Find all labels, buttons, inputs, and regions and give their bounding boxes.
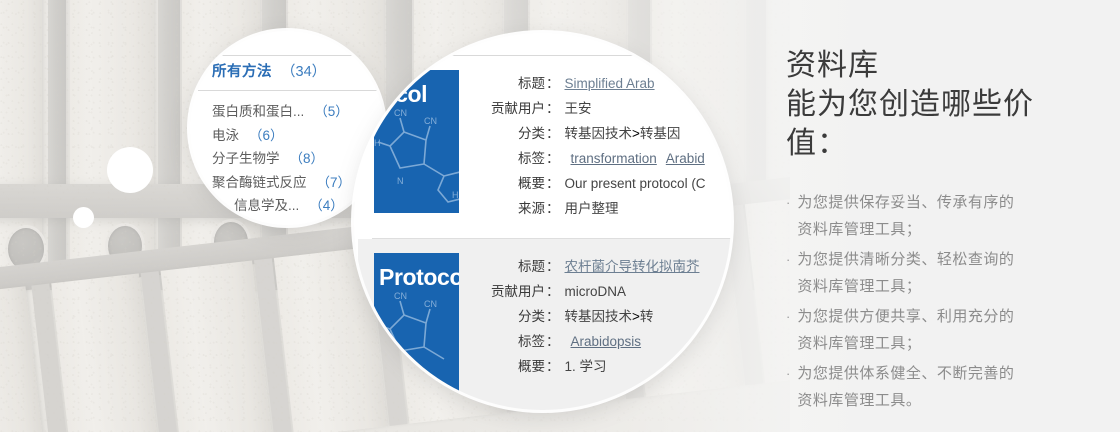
result-category-2[interactable]: 转 [640,305,654,325]
bullet-marker-icon: · [786,189,790,243]
meta-colon: ： [546,147,560,167]
meta-label-category: 分类 [481,305,545,325]
category-item-ellipsis: ... [288,198,299,213]
meta-label-summary: 概要 [481,355,545,375]
category-item-count: （4） [309,194,344,214]
promo-bullet-line: 为您提供方便共享、利用充分的 [797,308,1014,325]
result-category-2[interactable]: 转基因 [640,122,681,142]
meta-row-user: 贡献用户 ： microDNA [481,280,731,305]
promo-heading-line2: 能为您创造哪些价值： [786,88,1034,160]
category-header[interactable]: 所有方法 （34） [198,55,384,91]
category-item-label: 电泳 [212,124,239,144]
meta-colon: ： [546,172,560,192]
protocol-thumbnail[interactable]: rotocol CNCN HNH [374,70,459,213]
svg-text:CN: CN [394,291,407,301]
result-card[interactable]: Protocol CNCN [358,239,731,410]
svg-text:H: H [374,138,381,148]
protocol-thumbnail[interactable]: Protocol CNCN [374,253,459,396]
promo-bullet-text: 为您提供方便共享、利用充分的 资料库管理工具； [797,303,1014,357]
svg-text:CN: CN [424,116,437,126]
category-item-label: 信息学及 [234,194,288,214]
result-card[interactable]: rotocol CNCN HNH [358,56,731,238]
meta-label-user: 贡献用户 [481,97,545,117]
svg-text:CN: CN [394,108,407,118]
result-user: microDNA [565,284,627,299]
result-meta: 标题 ： 农杆菌介导转化拟南芥 贡献用户 ： microDNA 分类 ： 转基因… [459,253,731,396]
promo-bullet-line: 为您提供保存妥当、传承有序的 [797,194,1014,211]
category-item-count: （5） [314,100,349,120]
result-summary: 1. 学习 [565,355,607,375]
breadcrumb-separator: > [632,309,640,324]
promo-copy: 资料库 能为您创造哪些价值： · 为您提供保存妥当、传承有序的 资料库管理工具；… [786,46,1086,417]
results-panel: rotocol CNCN HNH [358,55,731,410]
result-tags: Arabidopsis [571,334,651,349]
result-title-link[interactable]: 农杆菌介导转化拟南芥 [565,255,700,275]
bullet-marker-icon: · [786,360,790,414]
promo-banner: 所有方法 （34） 蛋白质和蛋白... （5） 电泳 （6） 分子生物学 （8） [0,0,1120,432]
meta-row-title: 标题 ： Simplified Arab [481,72,731,97]
promo-bullet-text: 为您提供保存妥当、传承有序的 资料库管理工具； [797,189,1014,243]
result-user: 王安 [565,97,592,117]
promo-bullet-item: · 为您提供体系健全、不断完善的 资料库管理工具。 [786,360,1086,414]
meta-label-source: 来源 [481,197,545,217]
meta-label-tags: 标签 [481,147,545,167]
category-item-ellipsis: ... [293,104,304,119]
meta-colon: ： [546,355,560,375]
meta-label-tags: 标签 [481,330,545,350]
meta-colon: ： [546,72,560,92]
svg-text:CN: CN [424,299,437,309]
result-source: 用户整理 [565,197,619,217]
promo-bullet-line: 资料库管理工具； [797,335,921,352]
meta-label-title: 标题 [481,72,545,92]
meta-row-tags: 标签 ： Arabidopsis [481,330,731,355]
meta-row-summary: 概要 ： Our present protocol (C [481,172,731,197]
category-item-count: （7） [317,171,352,191]
meta-row-tags: 标签 ： transformationArabid [481,147,731,172]
category-header-count: （34） [281,60,326,81]
meta-row-summary: 概要 ： 1. 学习 [481,355,731,380]
meta-label-category: 分类 [481,122,545,142]
promo-bullet-line: 为您提供体系健全、不断完善的 [797,365,1014,382]
promo-bullet-line: 资料库管理工具。 [797,392,921,409]
meta-row-category: 分类 ： 转基因技术 > 转 [481,305,731,330]
meta-label-user: 贡献用户 [481,280,545,300]
category-header-title: 所有方法 [212,60,272,81]
meta-colon: ： [546,255,560,275]
meta-colon: ： [546,305,560,325]
svg-text:H: H [452,190,459,200]
meta-row-category: 分类 ： 转基因技术 > 转基因 [481,122,731,147]
result-summary: Our present protocol (C [565,176,706,191]
result-tags: transformationArabid [571,151,714,166]
svg-text:N: N [397,176,404,186]
breadcrumb-separator: > [632,126,640,141]
meta-label-summary: 概要 [481,172,545,192]
category-item-count: （8） [290,147,325,167]
result-category-1[interactable]: 转基因技术 [565,122,633,142]
bullet-marker-icon: · [786,246,790,300]
meta-row-user: 贡献用户 ： 王安 [481,97,731,122]
category-item-label: 分子生物学 [212,147,280,167]
promo-bullet-line: 资料库管理工具； [797,278,921,295]
tag-link[interactable]: Arabid [666,151,705,166]
molecule-icon: CNCN [374,281,459,396]
meta-colon: ： [546,97,560,117]
molecule-icon: CNCN HNH [374,98,459,213]
promo-heading: 资料库 能为您创造哪些价值： [786,46,1086,163]
result-title-link[interactable]: Simplified Arab [565,76,655,91]
promo-heading-line1: 资料库 [786,49,879,82]
tag-link[interactable]: transformation [571,151,657,166]
meta-colon: ： [546,280,560,300]
tag-link[interactable]: Arabidopsis [571,334,642,349]
category-item-count: （6） [249,124,284,144]
promo-bullet-item: · 为您提供清晰分类、轻松查询的 资料库管理工具； [786,246,1086,300]
meta-colon: ： [546,122,560,142]
category-item-label: 蛋白质和蛋白 [212,100,293,120]
decorative-dot-small [73,207,94,228]
category-item-label: 聚合酶链式反应 [212,171,307,191]
results-bubble: rotocol CNCN HNH [354,33,731,410]
promo-bullet-item: · 为您提供方便共享、利用充分的 资料库管理工具； [786,303,1086,357]
promo-bullet-line: 为您提供清晰分类、轻松查询的 [797,251,1014,268]
promo-bullet-text: 为您提供体系健全、不断完善的 资料库管理工具。 [797,360,1014,414]
meta-colon: ： [546,330,560,350]
meta-row-source: 来源 ： 用户整理 [481,197,731,222]
result-category-1[interactable]: 转基因技术 [565,305,633,325]
decorative-dot-large [107,147,153,193]
meta-label-title: 标题 [481,255,545,275]
meta-colon: ： [546,197,560,217]
meta-row-title: 标题 ： 农杆菌介导转化拟南芥 [481,255,731,280]
bullet-marker-icon: · [786,303,790,357]
promo-bullet-text: 为您提供清晰分类、轻松查询的 资料库管理工具； [797,246,1014,300]
result-meta: 标题 ： Simplified Arab 贡献用户 ： 王安 分类 ： 转基因技… [459,70,731,222]
promo-bullet-list: · 为您提供保存妥当、传承有序的 资料库管理工具； · 为您提供清晰分类、轻松查… [786,189,1086,414]
promo-bullet-item: · 为您提供保存妥当、传承有序的 资料库管理工具； [786,189,1086,243]
promo-bullet-line: 资料库管理工具； [797,221,921,238]
